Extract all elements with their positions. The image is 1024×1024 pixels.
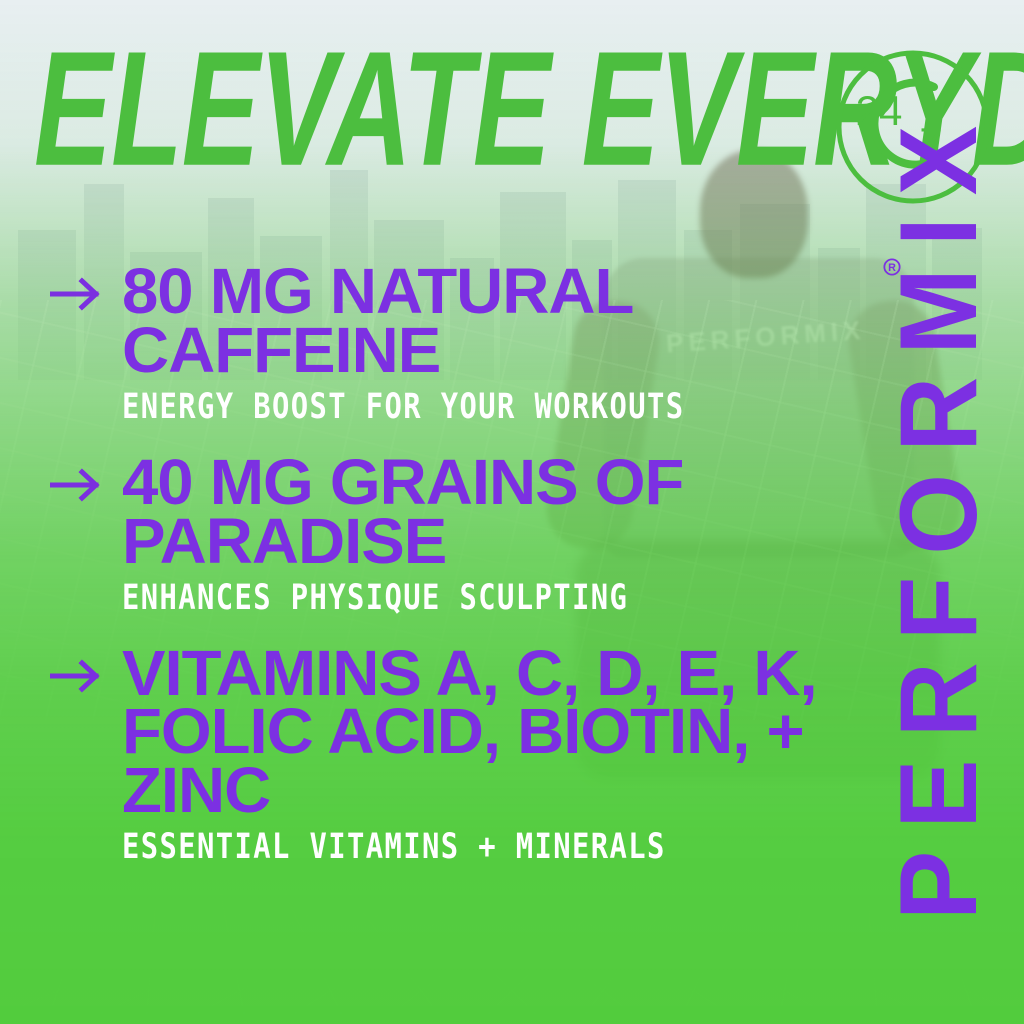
- arrow-right-icon: [50, 658, 104, 694]
- benefit-item: VITAMINS A, C, D, E, K, FOLIC ACID, BIOT…: [44, 644, 854, 864]
- benefit-subtitle: ESSENTIAL VITAMINS + MINERALS: [122, 830, 803, 865]
- brand-name: PERFORMIX: [884, 104, 993, 920]
- benefit-list: 80 MG NATURAL CAFFEINE ENERGY BOOST FOR …: [44, 262, 854, 885]
- vertical-brand-wordmark: PERFORMIX: [854, 0, 1024, 1024]
- benefit-title: 80 MG NATURAL CAFFEINE: [122, 262, 869, 380]
- arrow-right-icon: [50, 276, 104, 312]
- svg-text:R: R: [888, 262, 896, 274]
- arrow-right-icon: [50, 467, 104, 503]
- benefit-title: VITAMINS A, C, D, E, K, FOLIC ACID, BIOT…: [122, 644, 836, 821]
- benefit-subtitle: ENERGY BOOST FOR YOUR WORKOUTS: [122, 390, 803, 425]
- promo-poster: PERFORMIX ELEVATE EVERYDAY 24 7: [0, 0, 1024, 1024]
- benefit-item: 80 MG NATURAL CAFFEINE ENERGY BOOST FOR …: [44, 262, 854, 423]
- headline: ELEVATE EVERYDAY: [34, 34, 636, 184]
- benefit-item: 40 MG GRAINS OF PARADISE ENHANCES PHYSIQ…: [44, 453, 854, 614]
- registered-trademark-icon: R: [883, 258, 901, 276]
- benefit-subtitle: ENHANCES PHYSIQUE SCULPTING: [122, 581, 803, 616]
- benefit-title: 40 MG GRAINS OF PARADISE: [122, 453, 869, 571]
